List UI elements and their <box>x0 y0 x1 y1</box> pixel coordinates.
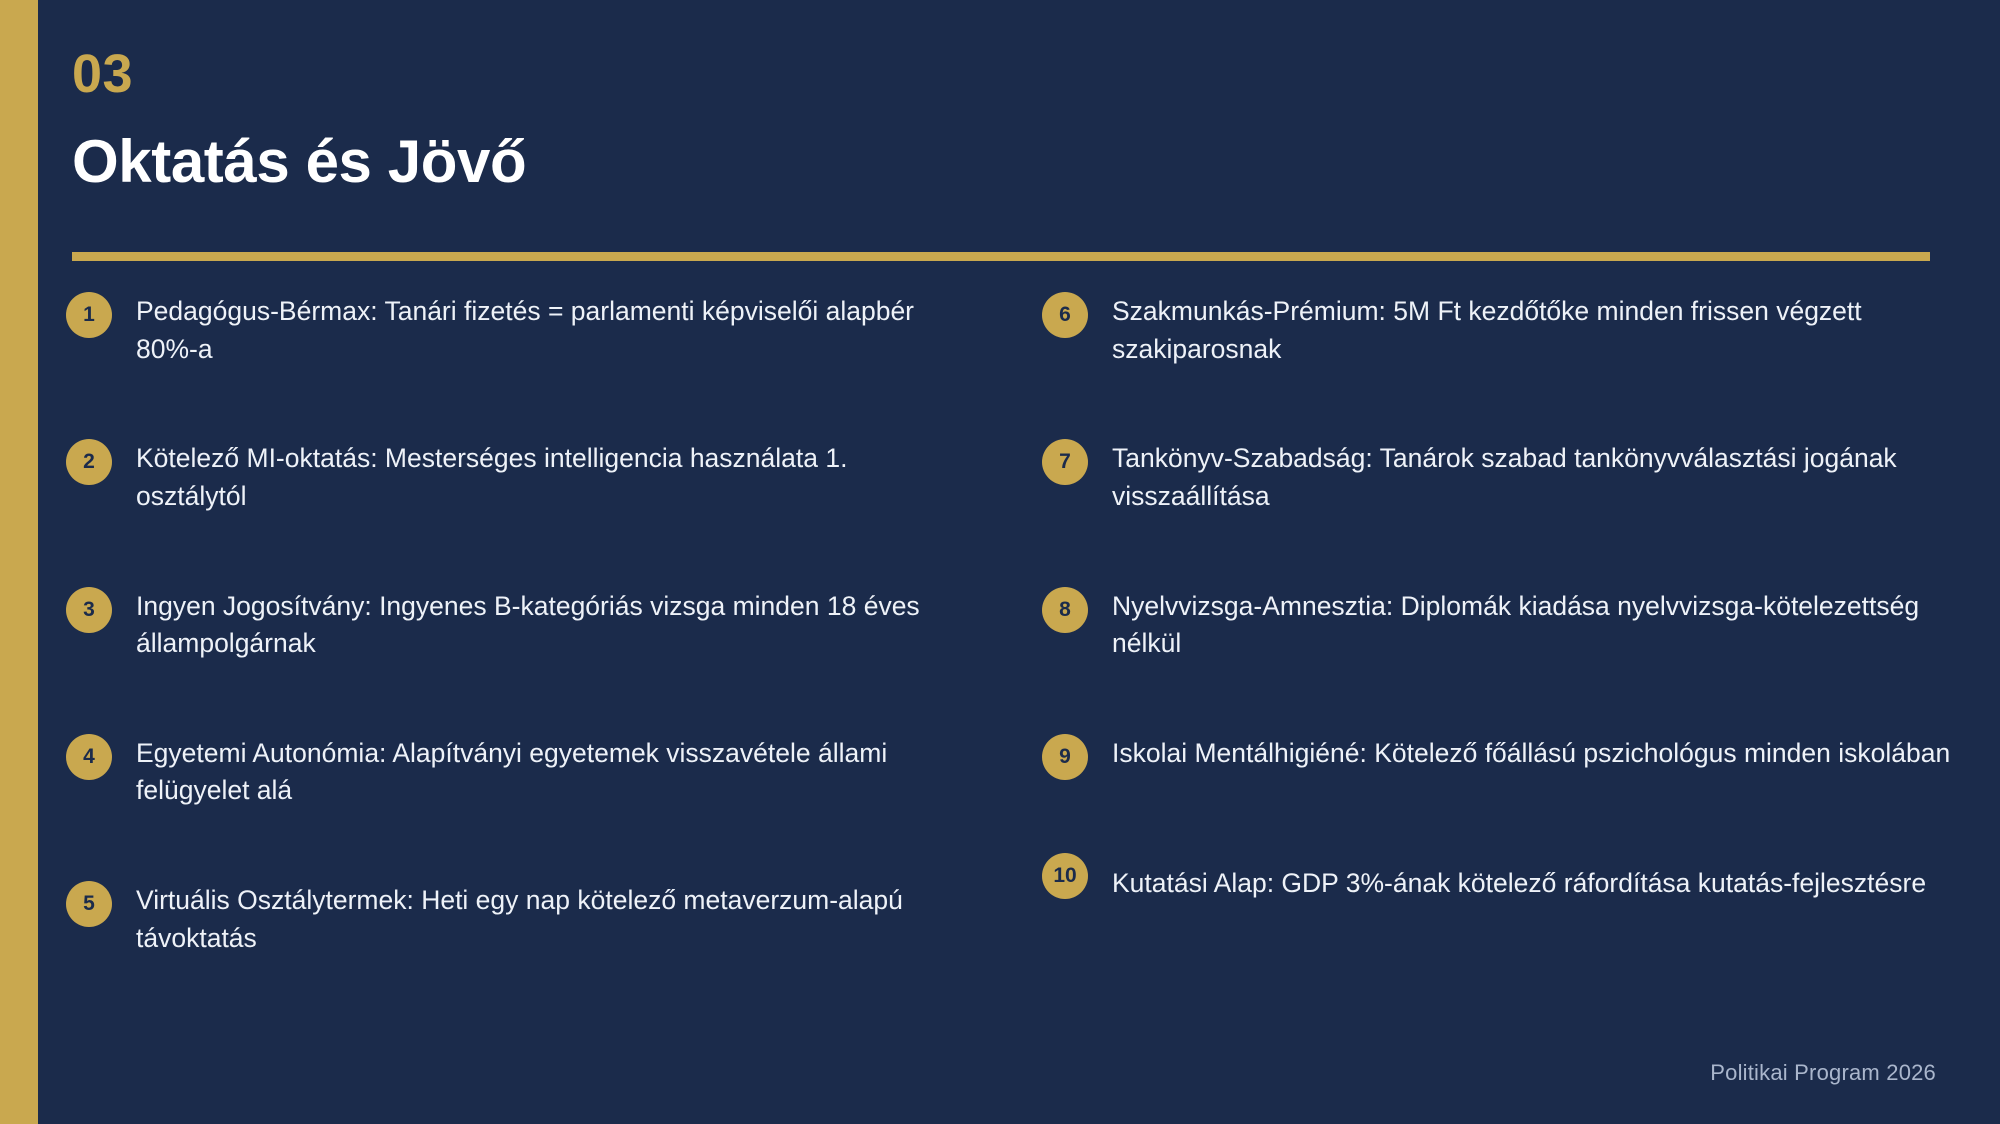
right-column: 6 Szakmunkás-Prémium: 5M Ft kezdőtőke mi… <box>0 290 2000 1026</box>
title-divider <box>72 252 1930 261</box>
item-text: Iskolai Mentálhigiéné: Kötelező főállású… <box>1112 732 1950 773</box>
item-number-badge: 10 <box>1042 853 1088 899</box>
slide: 03 Oktatás és Jövő 1 Pedagógus-Bérmax: T… <box>0 0 2000 1124</box>
item-text: Nyelvvizsga-Amnesztia: Diplomák kiadása … <box>1112 585 1960 663</box>
item-text: Kutatási Alap: GDP 3%-ának kötelező ráfo… <box>1112 853 1926 903</box>
footer-label: Politikai Program 2026 <box>1710 1060 1936 1086</box>
item-text: Tankönyv-Szabadság: Tanárok szabad tankö… <box>1112 437 1960 515</box>
item-number-badge: 6 <box>1042 292 1088 338</box>
list-item: 10 Kutatási Alap: GDP 3%-ának kötelező r… <box>1042 853 1960 905</box>
item-number-badge: 9 <box>1042 734 1088 780</box>
slide-header: 03 Oktatás és Jövő <box>72 46 1932 195</box>
content-columns: 1 Pedagógus-Bérmax: Tanári fizetés = par… <box>0 290 2000 1026</box>
item-number-badge: 7 <box>1042 439 1088 485</box>
list-item: 7 Tankönyv-Szabadság: Tanárok szabad tan… <box>1042 437 1960 515</box>
item-number-badge: 8 <box>1042 587 1088 633</box>
list-item: 6 Szakmunkás-Prémium: 5M Ft kezdőtőke mi… <box>1042 290 1960 368</box>
page-title: Oktatás és Jövő <box>72 129 1932 195</box>
item-text: Szakmunkás-Prémium: 5M Ft kezdőtőke mind… <box>1112 290 1960 368</box>
list-item: 8 Nyelvvizsga-Amnesztia: Diplomák kiadás… <box>1042 585 1960 663</box>
section-number: 03 <box>72 46 1932 103</box>
list-item: 9 Iskolai Mentálhigiéné: Kötelező főállá… <box>1042 732 1960 784</box>
